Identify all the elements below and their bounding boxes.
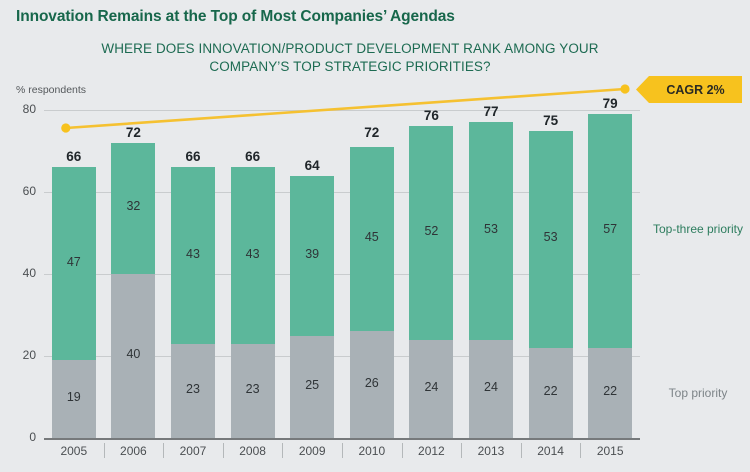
page-title: Innovation Remains at the Top of Most Co… [16, 8, 455, 26]
segment-value-top-priority-2013: 24 [469, 380, 513, 394]
segment-top-three-priority-2013[interactable]: 53 [469, 122, 513, 339]
segment-value-top-priority-2005: 19 [52, 390, 96, 404]
segment-top-priority-2009[interactable]: 25 [290, 336, 334, 439]
segment-top-three-priority-2014[interactable]: 53 [529, 131, 573, 348]
y-axis-unit-label: % respondents [16, 84, 86, 96]
x-tick-2006: 2006 [104, 444, 164, 458]
segment-top-three-priority-2007[interactable]: 43 [171, 167, 215, 343]
bar-2015[interactable]: 225779 [588, 114, 632, 438]
chart-page: Innovation Remains at the Top of Most Co… [0, 0, 750, 472]
legend-label-top: Top priority [646, 386, 750, 401]
segment-value-top-priority-2015: 22 [588, 384, 632, 398]
segment-value-top-three-priority-2015: 57 [588, 222, 632, 236]
segment-top-three-priority-2006[interactable]: 32 [111, 143, 155, 274]
segment-value-top-three-priority-2014: 53 [529, 230, 573, 244]
x-tick-2009: 2009 [282, 444, 342, 458]
bar-total-label-2013: 77 [469, 104, 513, 119]
bar-2013[interactable]: 245377 [469, 122, 513, 438]
bar-total-label-2006: 72 [111, 125, 155, 140]
x-tick-2014: 2014 [521, 444, 581, 458]
segment-value-top-priority-2008: 23 [231, 382, 275, 396]
gridline-0 [44, 438, 640, 440]
bar-2012[interactable]: 245276 [409, 126, 453, 438]
bar-total-label-2014: 75 [529, 113, 573, 128]
segment-top-three-priority-2015[interactable]: 57 [588, 114, 632, 348]
segment-value-top-three-priority-2008: 43 [231, 247, 275, 261]
segment-value-top-three-priority-2013: 53 [469, 222, 513, 236]
legend-label-top-three: Top-three priority [646, 222, 750, 237]
segment-top-three-priority-2009[interactable]: 39 [290, 176, 334, 336]
bar-2008[interactable]: 234366 [231, 167, 275, 438]
x-tick-2005: 2005 [44, 444, 104, 458]
segment-value-top-priority-2009: 25 [290, 378, 334, 392]
segment-top-priority-2005[interactable]: 19 [52, 360, 96, 438]
segment-top-three-priority-2012[interactable]: 52 [409, 126, 453, 339]
segment-top-priority-2006[interactable]: 40 [111, 274, 155, 438]
segment-value-top-priority-2012: 24 [409, 380, 453, 394]
segment-top-priority-2015[interactable]: 22 [588, 348, 632, 438]
segment-top-priority-2014[interactable]: 22 [529, 348, 573, 438]
segment-value-top-three-priority-2009: 39 [290, 247, 334, 261]
segment-value-top-three-priority-2006: 32 [111, 199, 155, 213]
bar-2006[interactable]: 403272 [111, 143, 155, 438]
bar-2014[interactable]: 225375 [529, 131, 573, 439]
bar-total-label-2012: 76 [409, 108, 453, 123]
y-tick-20: 20 [6, 348, 36, 362]
chart-subtitle: WHERE DOES INNOVATION/PRODUCT DEVELOPMEN… [60, 40, 640, 76]
y-tick-0: 0 [6, 430, 36, 444]
segment-top-three-priority-2008[interactable]: 43 [231, 167, 275, 343]
segment-top-priority-2013[interactable]: 24 [469, 340, 513, 438]
x-tick-2007: 2007 [163, 444, 223, 458]
bar-2007[interactable]: 234366 [171, 167, 215, 438]
bar-total-label-2015: 79 [588, 96, 632, 111]
bar-total-label-2005: 66 [52, 149, 96, 164]
segment-top-priority-2012[interactable]: 24 [409, 340, 453, 438]
x-tick-2010: 2010 [342, 444, 402, 458]
segment-value-top-priority-2014: 22 [529, 384, 573, 398]
segment-value-top-three-priority-2005: 47 [52, 255, 96, 269]
cagr-badge: CAGR 2% [636, 76, 742, 103]
segment-value-top-three-priority-2010: 45 [350, 230, 394, 244]
segment-top-priority-2007[interactable]: 23 [171, 344, 215, 438]
segment-value-top-three-priority-2007: 43 [171, 247, 215, 261]
segment-top-priority-2010[interactable]: 26 [350, 331, 394, 438]
bar-total-label-2008: 66 [231, 149, 275, 164]
y-tick-40: 40 [6, 266, 36, 280]
bar-2009[interactable]: 253964 [290, 176, 334, 438]
segment-value-top-priority-2010: 26 [350, 376, 394, 390]
segment-top-three-priority-2010[interactable]: 45 [350, 147, 394, 332]
x-tick-2013: 2013 [461, 444, 521, 458]
segment-value-top-priority-2007: 23 [171, 382, 215, 396]
y-tick-60: 60 [6, 184, 36, 198]
segment-top-priority-2008[interactable]: 23 [231, 344, 275, 438]
plot-area: 1947664032722343662343662539642645722452… [44, 110, 640, 438]
bar-2010[interactable]: 264572 [350, 143, 394, 438]
bar-2005[interactable]: 194766 [52, 167, 96, 438]
segment-value-top-priority-2006: 40 [111, 347, 155, 361]
bar-total-label-2009: 64 [290, 158, 334, 173]
bar-total-label-2007: 66 [171, 149, 215, 164]
x-tick-2008: 2008 [223, 444, 283, 458]
y-tick-80: 80 [6, 102, 36, 116]
bar-total-label-2010: 72 [350, 125, 394, 140]
gridline-80 [44, 110, 640, 111]
x-tick-2012: 2012 [402, 444, 462, 458]
cagr-badge-label: CAGR 2% [636, 76, 742, 103]
segment-top-three-priority-2005[interactable]: 47 [52, 167, 96, 360]
x-tick-2015: 2015 [580, 444, 640, 458]
segment-value-top-three-priority-2012: 52 [409, 224, 453, 238]
